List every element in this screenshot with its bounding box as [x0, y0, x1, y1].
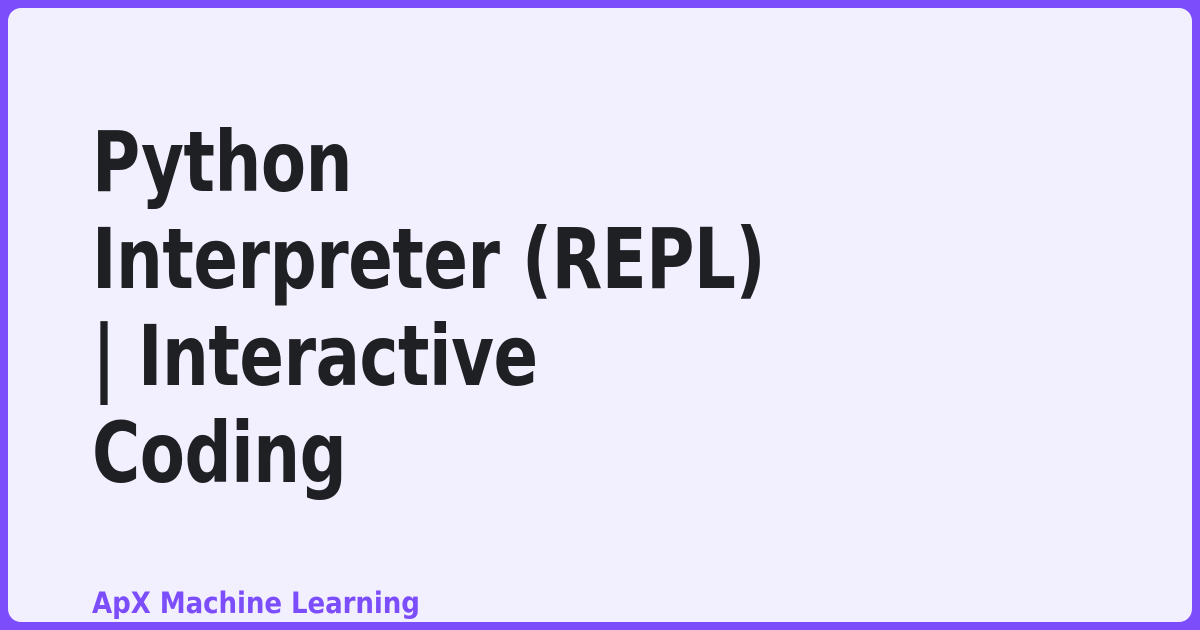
page-title: Python Interpreter (REPL) | Interactive …	[92, 114, 779, 502]
brand-subtitle: ApX Machine Learning	[92, 502, 1006, 620]
og-card-inner: Python Interpreter (REPL) | Interactive …	[8, 8, 1192, 622]
og-card-frame: Python Interpreter (REPL) | Interactive …	[0, 0, 1200, 630]
